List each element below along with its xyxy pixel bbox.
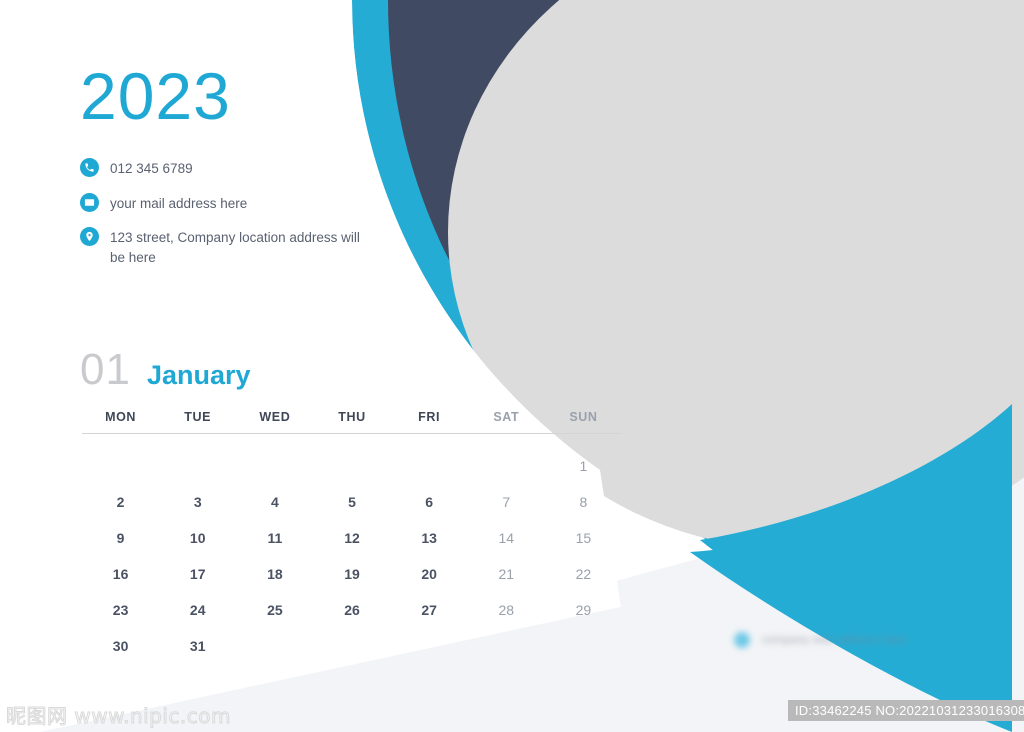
day-cell[interactable]: 30 (82, 628, 159, 664)
calendar-grid: MONTUEWEDTHUFRISATSUN 123456789101112131… (82, 410, 622, 664)
contact-list: 012 345 6789 your mail address here 123 … (80, 158, 370, 281)
day-cell[interactable]: 28 (468, 592, 545, 628)
year-title: 2023 (80, 63, 231, 129)
cyan-foreground-wedge-shape (690, 420, 1012, 732)
days-grid: 1234567891011121314151617181920212223242… (82, 448, 622, 664)
contact-text-phone: 012 345 6789 (110, 158, 193, 179)
contact-text-address: 123 street, Company location address wil… (110, 227, 370, 267)
phone-icon (80, 158, 99, 177)
day-cell-empty (468, 448, 545, 484)
weekday-header-row: MONTUEWEDTHUFRISATSUN (82, 410, 622, 434)
day-cell[interactable]: 1 (545, 448, 622, 484)
day-cell-empty (236, 448, 313, 484)
day-cell-empty (313, 448, 390, 484)
weekday-sat: SAT (468, 410, 545, 424)
contact-text-email: your mail address here (110, 193, 247, 214)
envelope-icon (80, 193, 99, 212)
day-cell-empty (159, 448, 236, 484)
day-cell[interactable]: 10 (159, 520, 236, 556)
day-cell[interactable]: 2 (82, 484, 159, 520)
day-cell[interactable]: 23 (82, 592, 159, 628)
day-cell[interactable]: 12 (313, 520, 390, 556)
day-cell[interactable]: 11 (236, 520, 313, 556)
location-pin-icon (80, 227, 99, 246)
day-cell[interactable]: 31 (159, 628, 236, 664)
day-cell[interactable]: 22 (545, 556, 622, 592)
day-cell-empty (391, 448, 468, 484)
day-cell[interactable]: 26 (313, 592, 390, 628)
day-cell-empty (82, 448, 159, 484)
month-number: 01 (80, 348, 131, 392)
watermark-nipic: 昵图网 www.nipic.com (6, 700, 231, 729)
contact-row-phone: 012 345 6789 (80, 158, 370, 179)
day-cell[interactable]: 9 (82, 520, 159, 556)
month-name: January (147, 362, 251, 389)
calendar-page: 2023 012 345 6789 your mail address here (0, 0, 1024, 732)
weekday-mon: MON (82, 410, 159, 424)
day-cell[interactable]: 17 (159, 556, 236, 592)
weekday-sun: SUN (545, 410, 622, 424)
day-cell[interactable]: 5 (313, 484, 390, 520)
day-cell[interactable]: 16 (82, 556, 159, 592)
day-cell[interactable]: 20 (391, 556, 468, 592)
day-cell[interactable]: 29 (545, 592, 622, 628)
web-address-text: company web address here (762, 634, 907, 646)
day-cell[interactable]: 13 (391, 520, 468, 556)
day-cell[interactable]: 8 (545, 484, 622, 520)
day-cell[interactable]: 6 (391, 484, 468, 520)
day-cell[interactable]: 21 (468, 556, 545, 592)
contact-row-address: 123 street, Company location address wil… (80, 227, 370, 267)
day-cell[interactable]: 15 (545, 520, 622, 556)
day-cell[interactable]: 7 (468, 484, 545, 520)
weekday-wed: WED (236, 410, 313, 424)
weekday-tue: TUE (159, 410, 236, 424)
day-cell[interactable]: 19 (313, 556, 390, 592)
watermark-id: ID:33462245 NO:20221031233016308123 (788, 700, 1024, 721)
contact-row-email: your mail address here (80, 193, 370, 214)
month-header: 01 January (80, 348, 251, 392)
weekday-thu: THU (313, 410, 390, 424)
day-cell[interactable]: 25 (236, 592, 313, 628)
bullet-dot-icon (734, 632, 750, 648)
cyan-lower-wedge-shape (700, 404, 1012, 724)
day-cell[interactable]: 27 (391, 592, 468, 628)
day-cell[interactable]: 24 (159, 592, 236, 628)
weekday-fri: FRI (391, 410, 468, 424)
web-address-footer: company web address here (734, 632, 907, 648)
day-cell[interactable]: 3 (159, 484, 236, 520)
day-cell[interactable]: 18 (236, 556, 313, 592)
day-cell[interactable]: 4 (236, 484, 313, 520)
day-cell[interactable]: 14 (468, 520, 545, 556)
